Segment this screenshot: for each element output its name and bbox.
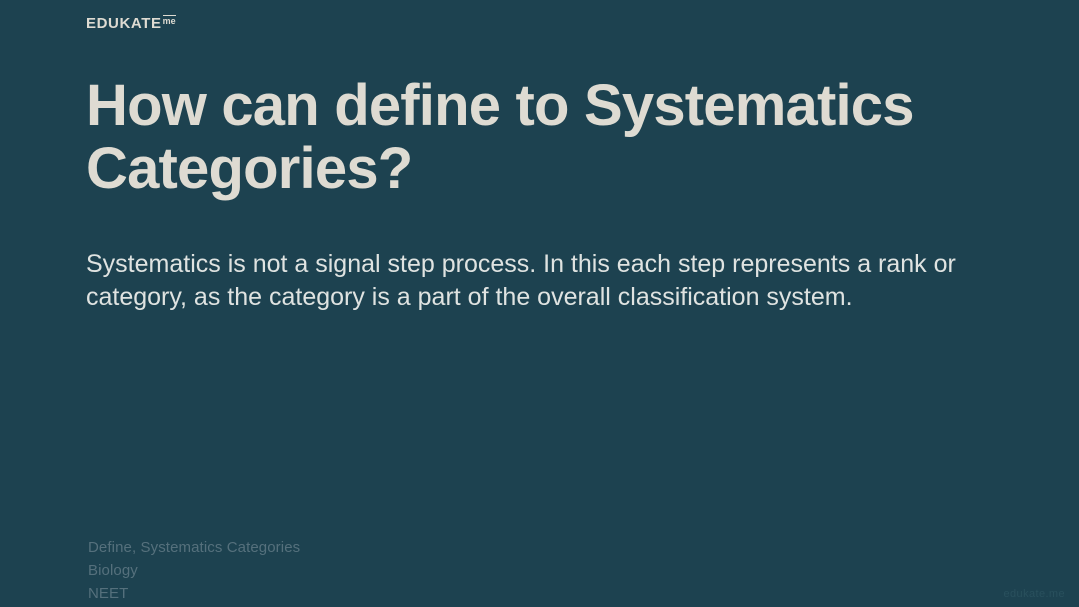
slide-body-text: Systematics is not a signal step process… xyxy=(86,248,991,315)
slide-footer: Define, Systematics Categories Biology N… xyxy=(88,540,300,601)
brand-logo-word: EDUKATE xyxy=(86,16,162,31)
slide: EDUKATE me How can define to Systematics… xyxy=(0,0,1079,607)
brand-logo-superscript: me xyxy=(163,15,176,26)
footer-exam: NEET xyxy=(88,586,300,601)
footer-topic: Define, Systematics Categories xyxy=(88,540,300,555)
watermark: edukate.me xyxy=(1004,588,1065,600)
brand-logo[interactable]: EDUKATE me xyxy=(86,16,176,31)
footer-subject: Biology xyxy=(88,563,300,578)
slide-title: How can define to Systematics Categories… xyxy=(86,74,986,200)
